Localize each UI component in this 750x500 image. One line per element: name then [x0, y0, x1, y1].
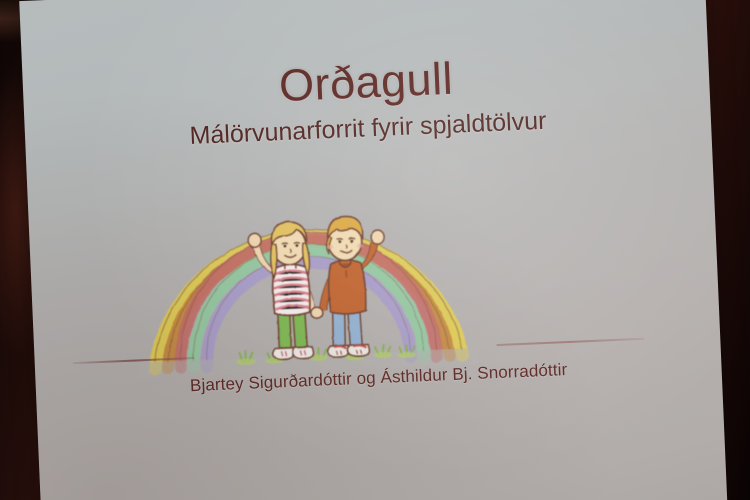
projection-screen-area: Orðagull Málörvunarforrit fyrir spjaldtö… — [0, 0, 750, 500]
presentation-slide: Orðagull Málörvunarforrit fyrir spjaldtö… — [19, 0, 727, 500]
slide-content: Orðagull Málörvunarforrit fyrir spjaldtö… — [20, 0, 727, 500]
figure-girl — [247, 221, 316, 361]
rainbow-illustration — [130, 152, 479, 378]
photograph-of-projection: Orðagull Málörvunarforrit fyrir spjaldtö… — [0, 0, 750, 500]
decorative-rule-right — [496, 338, 644, 346]
